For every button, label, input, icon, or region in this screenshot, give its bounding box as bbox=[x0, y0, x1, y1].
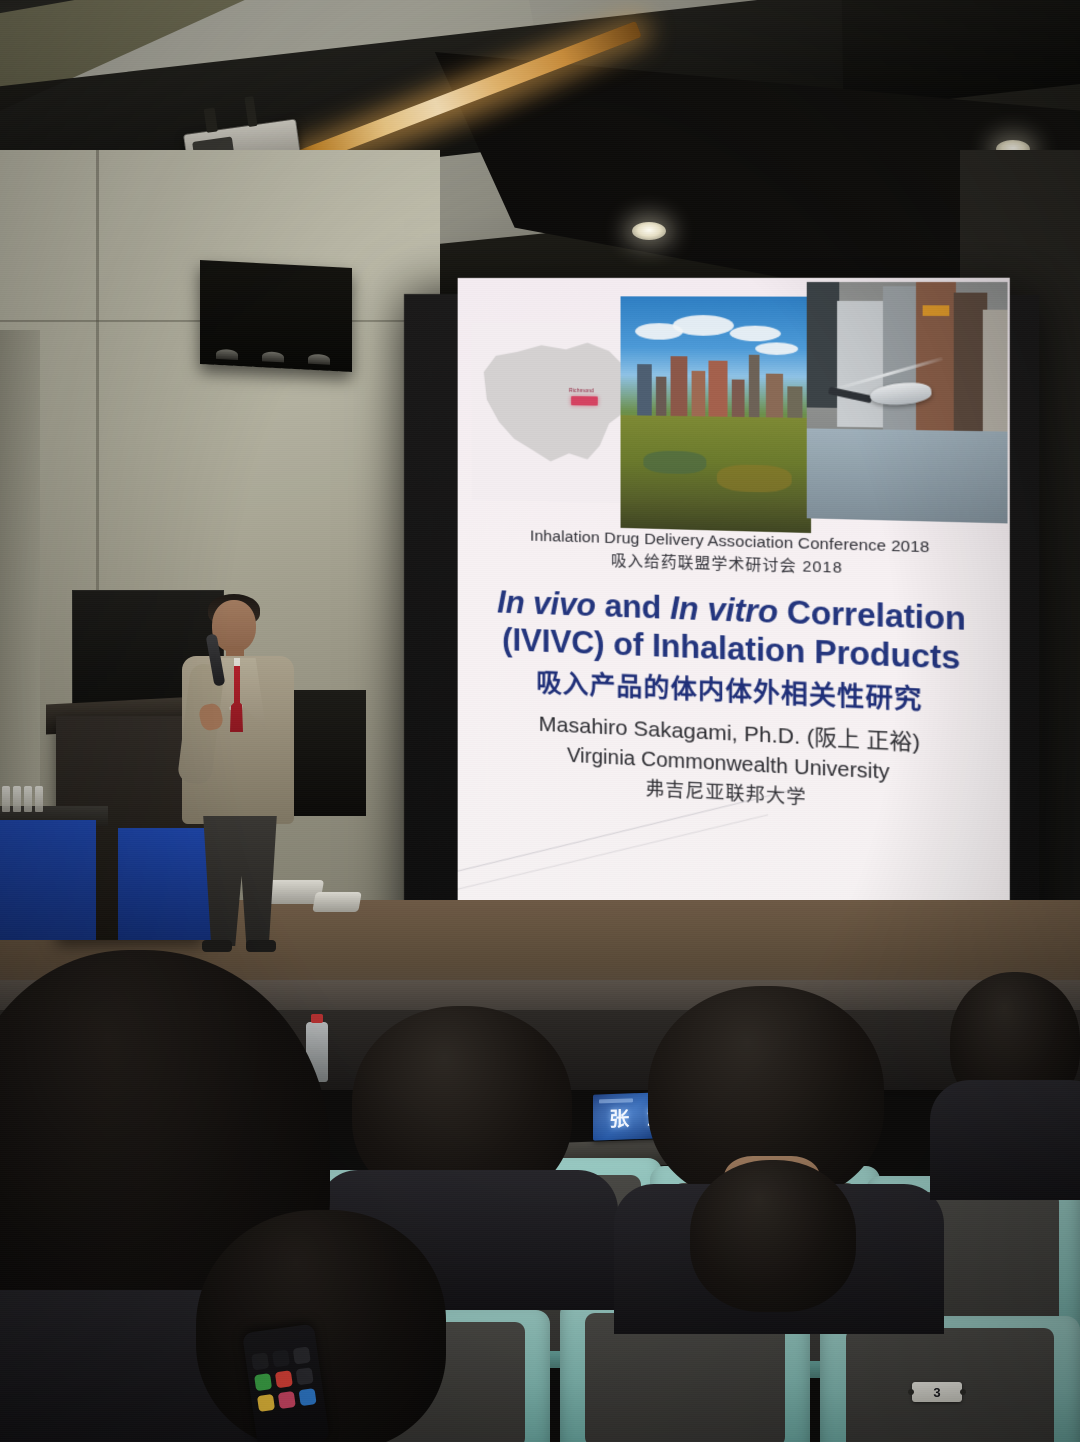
app-icon bbox=[251, 1352, 269, 1370]
title-and: and bbox=[596, 588, 670, 627]
app-icon bbox=[293, 1346, 311, 1364]
seat bbox=[820, 1316, 1080, 1442]
building-shape bbox=[837, 301, 885, 428]
presenter-shoe bbox=[202, 940, 232, 952]
app-icon bbox=[299, 1388, 317, 1406]
slide-photo-band: Richmond bbox=[458, 278, 1010, 539]
water-bottle-icon bbox=[35, 786, 43, 812]
water-bottles-group bbox=[2, 782, 48, 812]
stage-monitor-wedge bbox=[312, 892, 362, 912]
foliage-shape bbox=[643, 450, 706, 474]
building-shape bbox=[708, 361, 727, 417]
city-helicopter-photo bbox=[807, 282, 1008, 523]
building-shape bbox=[749, 355, 760, 417]
seat-number-plate: 3 bbox=[912, 1382, 962, 1402]
cloud-shape bbox=[755, 342, 798, 355]
building-shape bbox=[692, 371, 706, 417]
slide-text-block: Inhalation Drug Delivery Association Con… bbox=[458, 523, 1010, 821]
building-shape bbox=[732, 379, 745, 417]
app-icon bbox=[272, 1349, 290, 1367]
richmond-skyline-photo bbox=[621, 296, 812, 533]
water-bottle-icon bbox=[24, 786, 32, 812]
app-icon bbox=[278, 1391, 296, 1409]
presenter-legs bbox=[200, 816, 280, 946]
presentation-photo-scene: Richmond bbox=[0, 0, 1080, 1442]
building-shape bbox=[766, 374, 783, 418]
us-map-shape-icon bbox=[478, 336, 631, 476]
app-icon bbox=[257, 1394, 275, 1412]
audience-layer: 4 3 bbox=[0, 960, 1080, 1442]
seat-number-label: 3 bbox=[933, 1385, 940, 1400]
building-shape bbox=[637, 364, 652, 416]
lower-city-shape bbox=[807, 428, 1008, 523]
building-shape bbox=[883, 286, 920, 434]
plate-notch bbox=[960, 1389, 966, 1395]
blue-skirted-table bbox=[0, 820, 96, 940]
audience-shoulders bbox=[930, 1080, 1080, 1200]
presenter bbox=[176, 600, 308, 956]
recessed-downlight-icon bbox=[632, 222, 666, 240]
cloud-shape bbox=[673, 315, 734, 336]
richmond-marker-icon bbox=[571, 396, 598, 406]
building-shape bbox=[787, 386, 802, 418]
hanging-loudspeaker bbox=[200, 260, 352, 372]
title-correlation: Correlation bbox=[778, 594, 966, 638]
presenter-head bbox=[212, 600, 256, 652]
water-bottle-icon bbox=[2, 786, 10, 812]
richmond-marker-label: Richmond bbox=[569, 388, 594, 394]
app-icon bbox=[296, 1367, 314, 1385]
us-map-photo: Richmond bbox=[472, 322, 635, 503]
building-shape bbox=[983, 310, 1008, 449]
app-icon bbox=[275, 1370, 293, 1388]
building-shape bbox=[656, 377, 666, 416]
title-invitro: In vitro bbox=[670, 590, 778, 630]
building-shape bbox=[671, 356, 688, 416]
phone-app-grid bbox=[251, 1346, 318, 1412]
building-accent bbox=[923, 305, 950, 316]
speaker-driver-icon bbox=[308, 354, 330, 365]
app-icon bbox=[254, 1373, 272, 1391]
title-invivo: In vivo bbox=[497, 584, 596, 623]
audience-head bbox=[690, 1160, 856, 1312]
plate-notch bbox=[908, 1389, 914, 1395]
foliage-shape bbox=[717, 464, 792, 493]
water-bottle-icon bbox=[13, 786, 21, 812]
speaker-driver-icon bbox=[216, 349, 238, 360]
presenter-shoe bbox=[246, 940, 276, 952]
speaker-driver-icon bbox=[262, 351, 284, 362]
cloud-shape bbox=[730, 326, 781, 342]
